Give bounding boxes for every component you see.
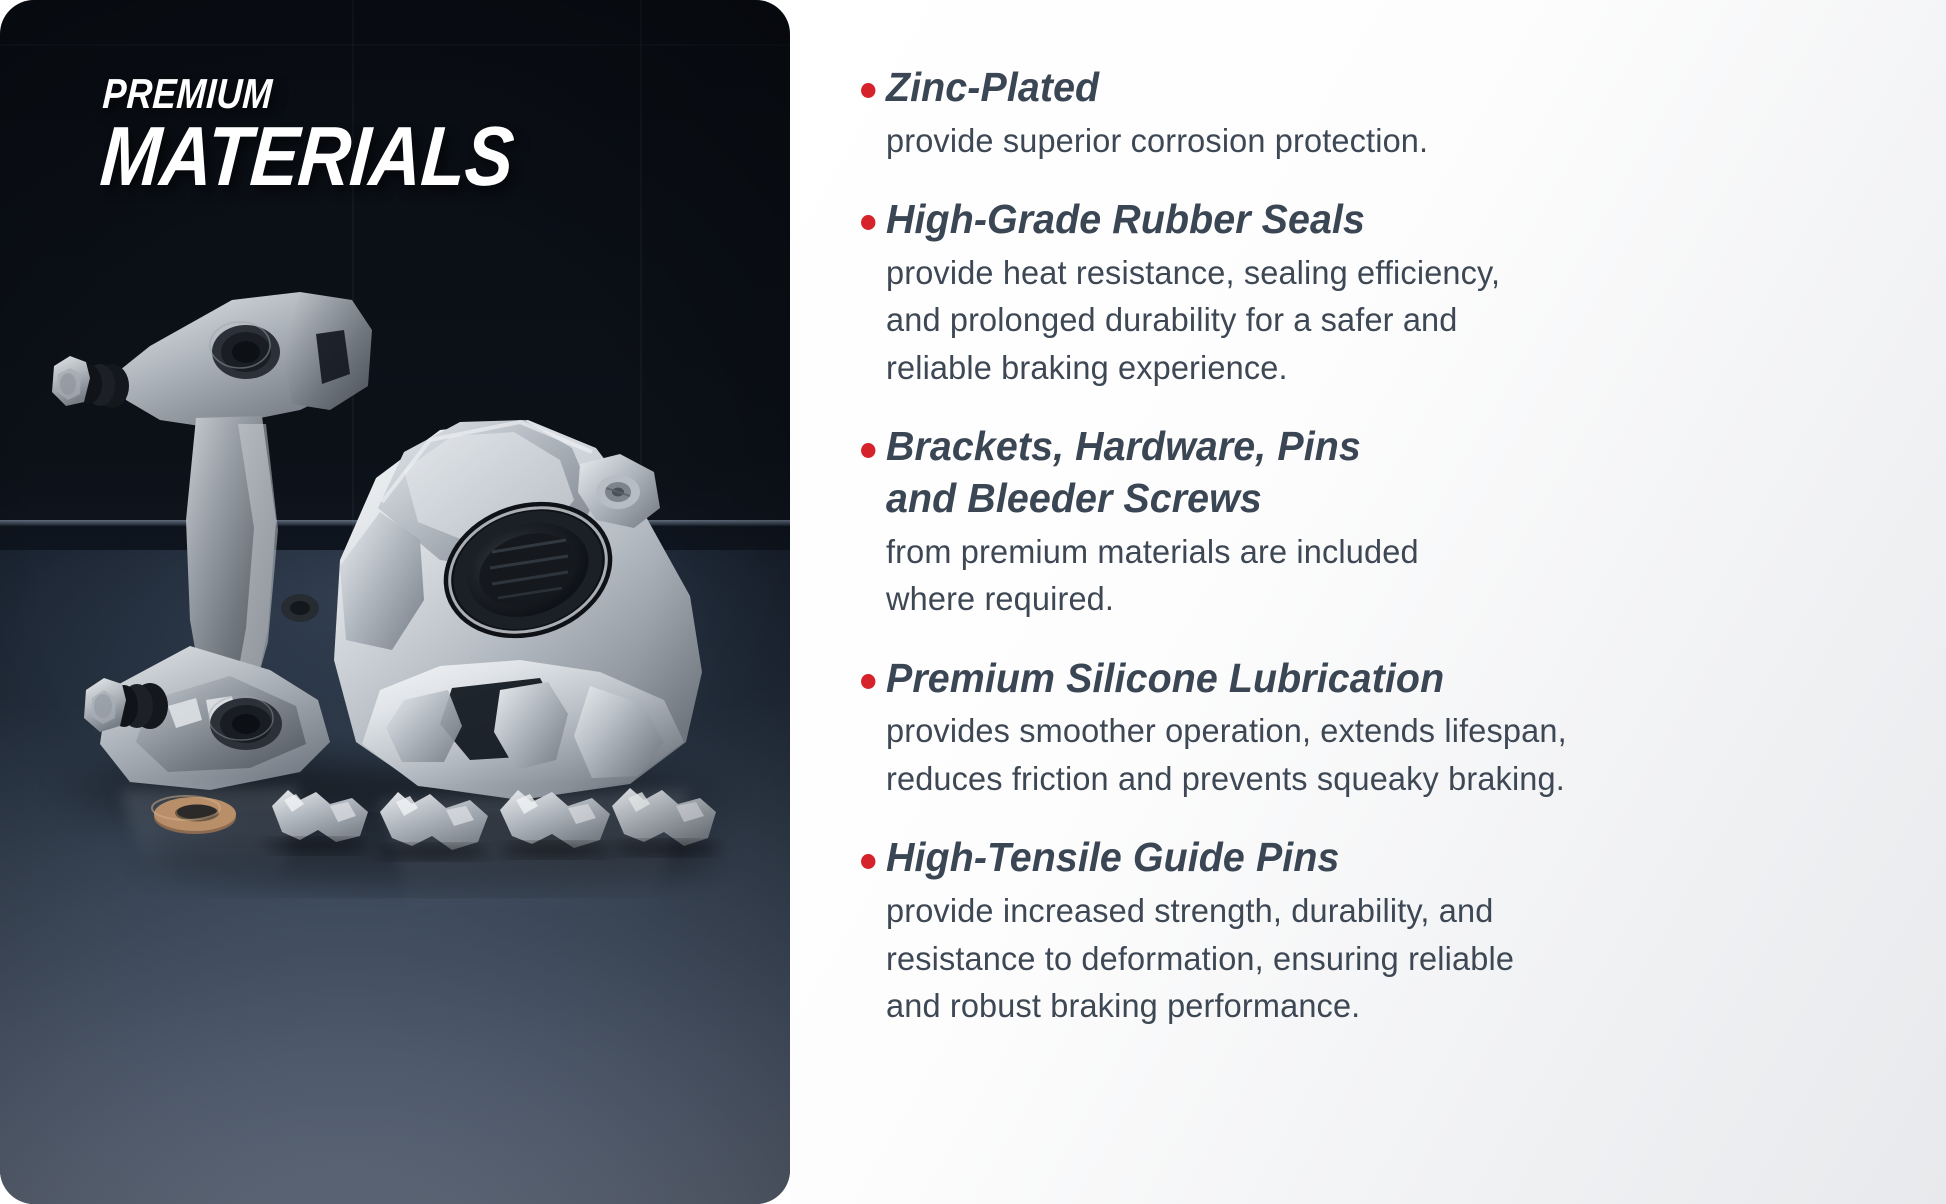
bullet-dot-icon [861, 215, 875, 230]
panel-title-main: MATERIALS [98, 117, 516, 196]
feature-body: from premium materials are included wher… [886, 528, 1875, 623]
feature-body: provide superior corrosion protection. [886, 117, 1875, 165]
feature-body-line: and prolonged durability for a safer and [886, 296, 1875, 344]
feature-body-line: provide superior corrosion protection. [886, 117, 1875, 165]
feature-heading: Zinc-Plated [886, 62, 1850, 114]
feature-body: provides smoother operation, extends lif… [886, 707, 1875, 802]
product-photo-panel: PREMIUM MATERIALS [0, 0, 790, 1204]
feature-item-guide-pins: High-Tensile Guide Pins provide increase… [886, 832, 1890, 1029]
feature-heading: Premium Silicone Lubrication [886, 653, 1850, 705]
guide-pin-bolt-upper [52, 356, 129, 408]
bullet-dot-icon [861, 674, 875, 689]
feature-body-line: where required. [886, 575, 1875, 623]
feature-heading-text: High-Tensile Guide Pins [886, 834, 1339, 880]
feature-heading-text: Zinc-Plated [886, 64, 1099, 110]
brake-caliper-body [334, 420, 702, 800]
feature-item-zinc-plated: Zinc-Plated provide superior corrosion p… [886, 62, 1890, 164]
guide-pin-bolt-lower [84, 678, 168, 732]
panel-title-block: PREMIUM MATERIALS [104, 74, 583, 196]
bullet-dot-icon [861, 83, 875, 98]
panel-title-eyebrow: PREMIUM [102, 74, 507, 113]
feature-body-line: provides smoother operation, extends lif… [886, 707, 1875, 755]
feature-body-line: resistance to deformation, ensuring reli… [886, 935, 1875, 983]
feature-heading-text: High-Grade Rubber Seals [886, 196, 1365, 242]
feature-body-line: reliable braking experience. [886, 344, 1875, 392]
feature-heading-text-2: and Bleeder Screws [886, 475, 1262, 521]
feature-item-silicone-lubrication: Premium Silicone Lubrication provides sm… [886, 653, 1890, 803]
bullet-dot-icon [861, 443, 875, 458]
feature-heading: Brackets, Hardware, Pins [886, 421, 1850, 473]
feature-heading: High-Tensile Guide Pins [886, 832, 1850, 884]
bullet-dot-icon [861, 854, 875, 869]
feature-item-brackets-hardware: Brackets, Hardware, Pins and Bleeder Scr… [886, 421, 1890, 622]
feature-body: provide increased strength, durability, … [886, 887, 1875, 1030]
feature-body-line: provide heat resistance, sealing efficie… [886, 249, 1875, 297]
feature-heading-text: Premium Silicone Lubrication [886, 655, 1444, 701]
feature-body-line: reduces friction and prevents squeaky br… [886, 755, 1875, 803]
abutment-clip-1 [264, 790, 368, 854]
feature-body: provide heat resistance, sealing efficie… [886, 249, 1875, 392]
bleeder-screw [596, 475, 640, 509]
infographic-page: PREMIUM MATERIALS Zinc-Plated provide su… [0, 0, 1946, 1204]
features-panel: Zinc-Plated provide superior corrosion p… [790, 0, 1946, 1204]
feature-item-rubber-seals: High-Grade Rubber Seals provide heat res… [886, 194, 1890, 391]
feature-heading-text: Brackets, Hardware, Pins [886, 423, 1361, 469]
feature-heading-continued: and Bleeder Screws [886, 473, 1850, 525]
feature-body-line: from premium materials are included [886, 528, 1875, 576]
feature-body-line: and robust braking performance. [886, 982, 1875, 1030]
feature-heading: High-Grade Rubber Seals [886, 194, 1850, 246]
feature-body-line: provide increased strength, durability, … [886, 887, 1875, 935]
